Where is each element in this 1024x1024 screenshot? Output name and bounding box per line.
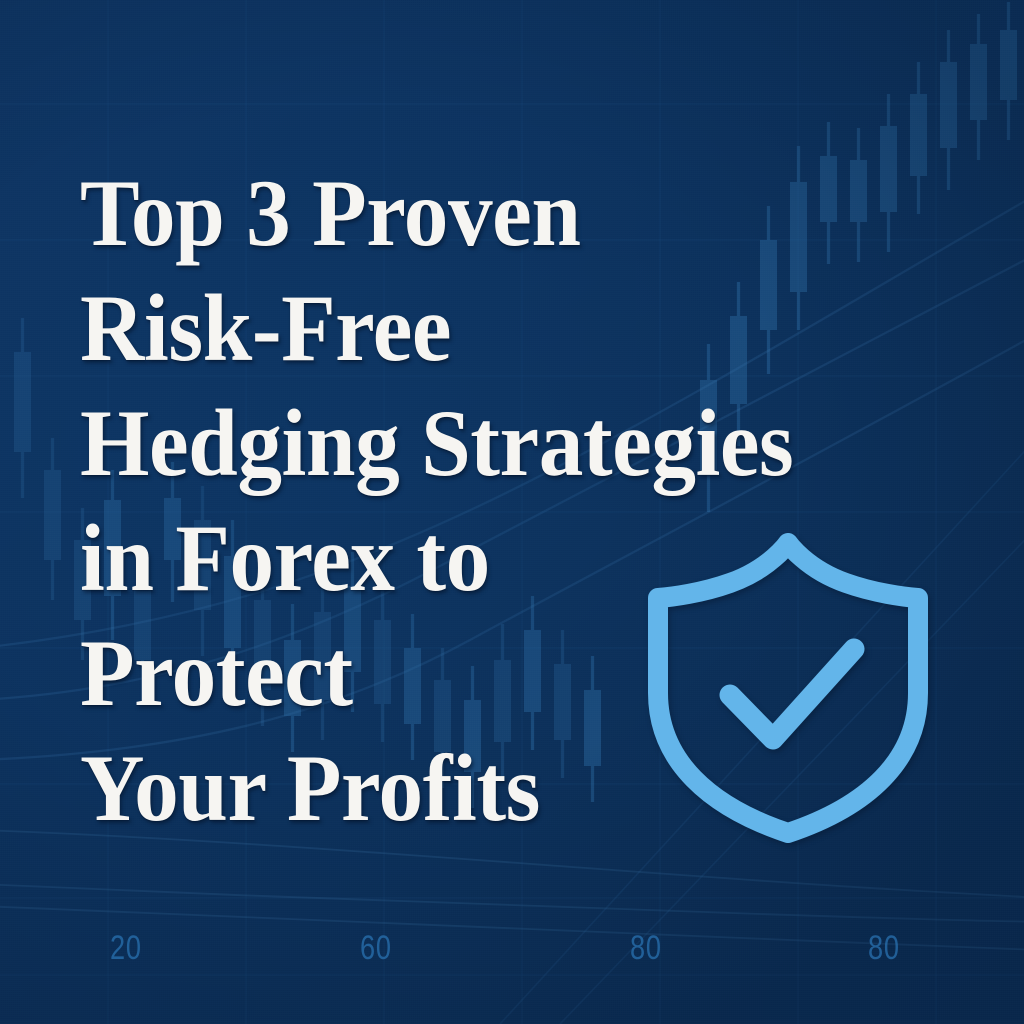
axis-tick-label-1: 60 — [360, 929, 392, 968]
headline-line-4: in Forex to — [80, 501, 935, 616]
headline-line-3: Hedging Strategies — [80, 386, 935, 501]
axis-tick-label-0: 20 — [110, 929, 142, 968]
axis-tick-label-3: 80 — [868, 929, 900, 968]
headline-line-6: Your Profits — [80, 731, 935, 846]
headline-line-2: Risk-Free — [80, 271, 935, 386]
page-title: Top 3 Proven Risk-Free Hedging Strategie… — [80, 156, 990, 846]
candlestick-body — [14, 352, 31, 452]
candlestick-body — [1000, 30, 1017, 100]
headline-line-1: Top 3 Proven — [80, 156, 935, 271]
candlestick-body — [970, 44, 987, 120]
poster-canvas: 20608080 Top 3 Proven Risk-Free Hedging … — [0, 0, 1024, 1024]
candlestick-body — [44, 470, 61, 560]
headline-line-5: Protect — [80, 616, 935, 731]
candlestick-body — [940, 62, 957, 148]
axis-tick-label-2: 80 — [630, 929, 662, 968]
